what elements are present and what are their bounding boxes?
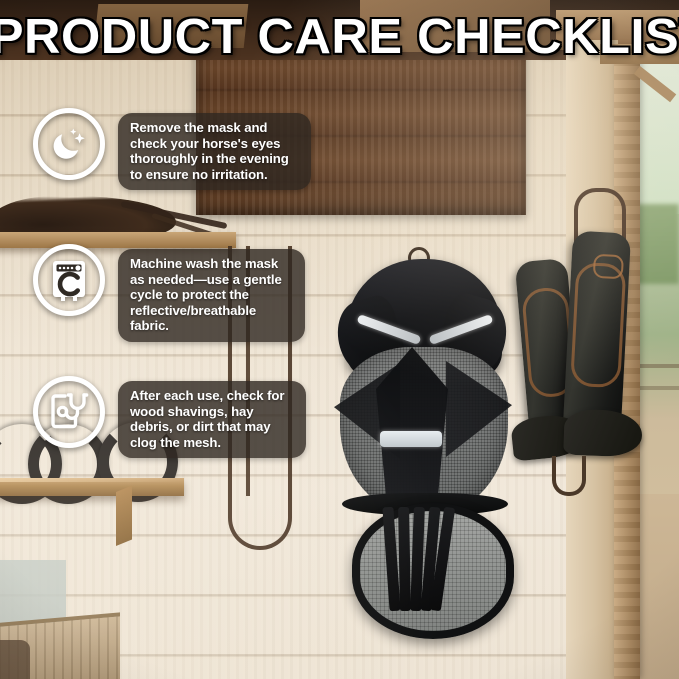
page-title: PRODUCT CARE CHECKLIST [0, 9, 679, 65]
pasture-ground [636, 494, 679, 679]
boot-trim-right [570, 262, 626, 388]
riding-boot-right [563, 231, 631, 430]
moon-stars-icon [33, 108, 105, 180]
boot-brand-logo [593, 254, 624, 280]
checklist-bubble-1: Remove the mask and check your horse's e… [118, 113, 311, 190]
product-care-checklist-infographic: PRODUCT CARE CHECKLIST Remove the mask a… [0, 0, 679, 679]
washing-machine-icon [33, 244, 105, 316]
checklist-text-1: Remove the mask and check your horse's e… [130, 120, 298, 182]
reflective-strip-nose [380, 431, 442, 447]
checklist-bubble-3: After each use, check for wood shavings,… [118, 381, 306, 458]
checklist-bubble-2: Machine wash the mask as needed—use a ge… [118, 249, 305, 342]
inspect-stethoscope-icon [33, 376, 105, 448]
shelf-bracket [116, 486, 132, 546]
checklist-text-3: After each use, check for wood shavings,… [130, 388, 293, 450]
lower-wooden-shelf [0, 478, 184, 496]
checklist-item-2: Machine wash the mask as needed—use a ge… [33, 244, 305, 342]
riding-boots [516, 188, 646, 488]
mask-fringe [386, 507, 448, 619]
crate-shadow [0, 640, 30, 679]
boot-foot-right [563, 409, 643, 458]
horse-fly-mask-product [324, 255, 524, 595]
checklist-item-3: After each use, check for wood shavings,… [33, 376, 306, 458]
checklist-item-1: Remove the mask and check your horse's e… [33, 108, 311, 190]
boot-spur [552, 456, 586, 496]
checklist-text-2: Machine wash the mask as needed—use a ge… [130, 256, 292, 334]
